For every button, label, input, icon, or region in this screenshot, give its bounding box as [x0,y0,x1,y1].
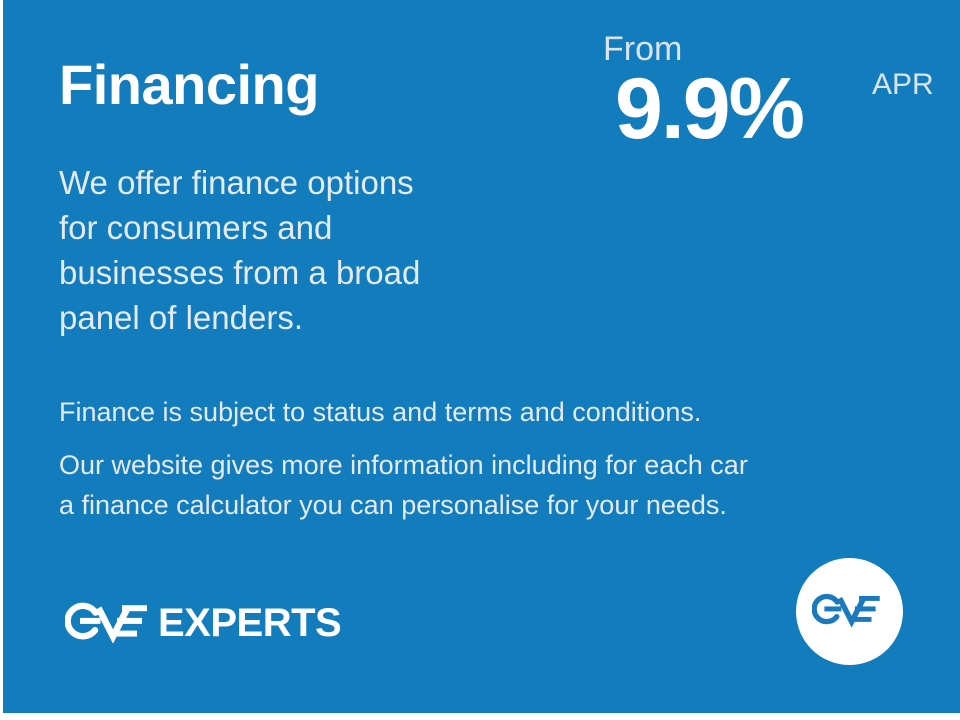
slide-canvas: Financing From 9.9% APR We offer finance… [3,0,960,713]
apr-rate-value: 9.9% [615,66,803,152]
brand-wordmark-text: EXPERTS [158,603,341,643]
fineprint-line-1: Finance is subject to status and terms a… [59,392,949,432]
fineprint-line-2: Our website gives more information inclu… [59,445,949,525]
eve-monogram-icon [812,589,888,634]
ev-monogram-icon [65,599,157,648]
apr-suffix-label: APR [872,70,934,100]
apr-callout: From 9.9% APR [595,28,955,168]
page-title: Financing [59,57,319,113]
intro-paragraph: We offer finance options for consumers a… [59,160,539,340]
brand-badge [796,558,903,665]
brand-wordmark: EXPERTS [65,600,341,646]
fineprint-block: Finance is subject to status and terms a… [59,392,949,525]
